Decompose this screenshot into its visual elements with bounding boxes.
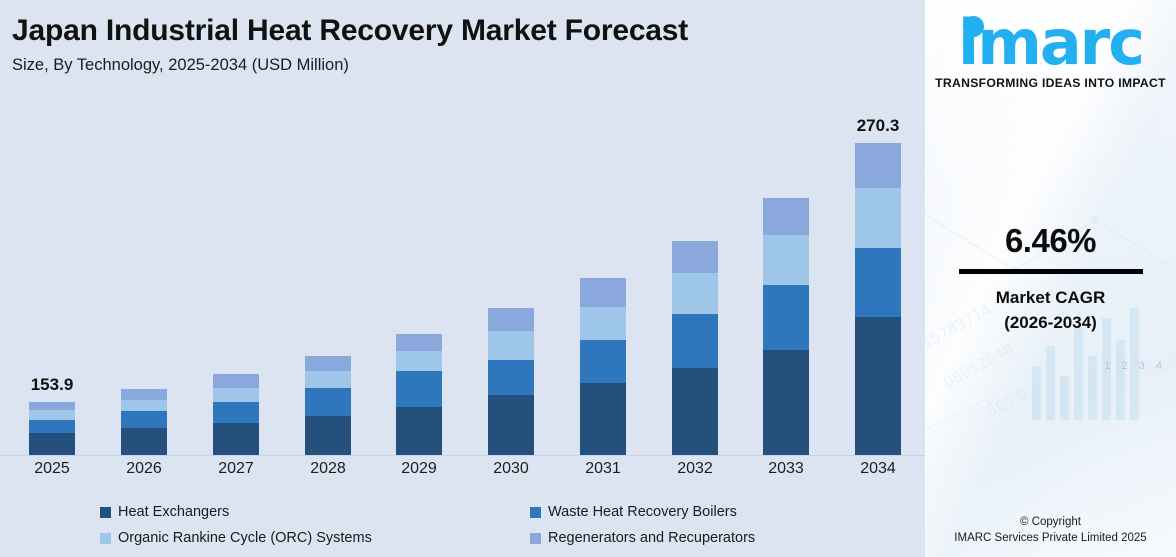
bar-segment-regenerators-and-recuperators — [763, 198, 809, 235]
x-axis-tick-2029: 2029 — [379, 460, 459, 478]
legend-label: Regenerators and Recuperators — [548, 530, 755, 546]
legend-swatch-icon — [530, 533, 541, 544]
bar-segment-waste-heat-recovery-boilers — [396, 371, 442, 407]
x-axis-tick-2032: 2032 — [655, 460, 735, 478]
x-axis-tick-2030: 2030 — [471, 460, 551, 478]
bar-segment-regenerators-and-recuperators — [580, 278, 626, 307]
bar-segment-waste-heat-recovery-boilers — [121, 411, 167, 428]
bar-segment-organic-rankine-cycle-orc-systems — [305, 371, 351, 388]
x-axis-tick-2031: 2031 — [563, 460, 643, 478]
bar-segment-organic-rankine-cycle-orc-systems — [213, 388, 259, 402]
legend-item-waste-heat-recovery-boilers[interactable]: Waste Heat Recovery Boilers — [530, 504, 960, 520]
bar-stack — [672, 241, 718, 455]
bar-segment-heat-exchangers — [396, 407, 442, 455]
bar-segment-organic-rankine-cycle-orc-systems — [580, 307, 626, 340]
bar-segment-heat-exchangers — [488, 395, 534, 455]
x-axis-tick-2033: 2033 — [746, 460, 826, 478]
legend-item-heat-exchangers[interactable]: Heat Exchangers — [100, 504, 530, 520]
bar-segment-organic-rankine-cycle-orc-systems — [121, 400, 167, 411]
bar-segment-heat-exchangers — [305, 416, 351, 455]
cagr-divider — [959, 269, 1143, 274]
x-axis-tick-2026: 2026 — [104, 460, 184, 478]
legend-label: Organic Rankine Cycle (ORC) Systems — [118, 530, 372, 546]
legend-label: Waste Heat Recovery Boilers — [548, 504, 737, 520]
branding-pane: 0.15783714 08952048 500.0 1 2 3 4 imarc … — [925, 0, 1176, 557]
x-axis-tick-2034: 2034 — [838, 460, 918, 478]
cagr-label-period: (2026-2034) — [925, 311, 1176, 336]
copyright-line-1: © Copyright — [925, 514, 1176, 531]
bar-segment-heat-exchangers — [580, 383, 626, 455]
bar-segment-heat-exchangers — [29, 433, 75, 455]
bar-stack — [121, 389, 167, 455]
bar-segment-regenerators-and-recuperators — [855, 143, 901, 188]
x-axis-tick-2025: 2025 — [12, 460, 92, 478]
imarc-wordmark: imarc — [925, 14, 1176, 73]
bar-segment-waste-heat-recovery-boilers — [763, 285, 809, 350]
x-axis-baseline — [0, 455, 925, 456]
bar-stack: 270.3 — [855, 143, 901, 455]
bar-segment-waste-heat-recovery-boilers — [672, 314, 718, 368]
bar-segment-waste-heat-recovery-boilers — [305, 388, 351, 416]
bar-segment-organic-rankine-cycle-orc-systems — [855, 188, 901, 248]
legend-item-organic-rankine-cycle-orc-systems[interactable]: Organic Rankine Cycle (ORC) Systems — [100, 530, 530, 546]
legend-swatch-icon — [100, 533, 111, 544]
bar-stack — [396, 334, 442, 455]
bar-segment-waste-heat-recovery-boilers — [29, 420, 75, 433]
chart-legend: Heat ExchangersWaste Heat Recovery Boile… — [100, 504, 900, 546]
bar-segment-organic-rankine-cycle-orc-systems — [396, 351, 442, 371]
imarc-logo: imarc TRANSFORMING IDEAS INTO IMPACT — [925, 14, 1176, 90]
bar-segment-heat-exchangers — [121, 428, 167, 455]
x-axis-labels: 2025202620272028202920302031203220332034 — [0, 460, 925, 488]
x-axis-tick-2028: 2028 — [288, 460, 368, 478]
bar-stack — [763, 198, 809, 455]
copyright-notice: © Copyright IMARC Services Private Limit… — [925, 514, 1176, 547]
cagr-block: 6.46% Market CAGR (2026-2034) — [925, 222, 1176, 335]
legend-label: Heat Exchangers — [118, 504, 229, 520]
bar-stack — [488, 308, 534, 455]
bar-segment-regenerators-and-recuperators — [396, 334, 442, 351]
bar-segment-heat-exchangers — [855, 317, 901, 455]
bar-value-label: 270.3 — [857, 116, 900, 136]
bar-segment-regenerators-and-recuperators — [305, 356, 351, 371]
bar-segment-organic-rankine-cycle-orc-systems — [763, 235, 809, 285]
cagr-value: 6.46% — [925, 222, 1176, 260]
bar-segment-organic-rankine-cycle-orc-systems — [29, 410, 75, 420]
copyright-line-2: IMARC Services Private Limited 2025 — [925, 530, 1176, 547]
imarc-logo-dot-icon — [963, 16, 984, 37]
bar-stack: 153.9 — [29, 402, 75, 455]
bar-value-label: 153.9 — [31, 375, 74, 395]
x-axis-tick-2027: 2027 — [196, 460, 276, 478]
legend-item-regenerators-and-recuperators[interactable]: Regenerators and Recuperators — [530, 530, 960, 546]
bar-segment-regenerators-and-recuperators — [672, 241, 718, 273]
bar-stack — [580, 278, 626, 455]
bar-segment-waste-heat-recovery-boilers — [213, 402, 259, 423]
bar-stack — [305, 356, 351, 455]
bar-segment-regenerators-and-recuperators — [29, 402, 75, 410]
legend-swatch-icon — [530, 507, 541, 518]
bar-segment-heat-exchangers — [672, 368, 718, 455]
cagr-label-primary: Market CAGR — [925, 286, 1176, 311]
bar-stack — [213, 374, 259, 455]
bar-segment-regenerators-and-recuperators — [121, 389, 167, 400]
bar-segment-heat-exchangers — [763, 350, 809, 455]
bar-segment-heat-exchangers — [213, 423, 259, 455]
bar-segment-organic-rankine-cycle-orc-systems — [488, 331, 534, 360]
chart-infographic: Japan Industrial Heat Recovery Market Fo… — [0, 0, 1176, 557]
bar-segment-waste-heat-recovery-boilers — [580, 340, 626, 383]
bar-segment-waste-heat-recovery-boilers — [855, 248, 901, 317]
bar-segment-waste-heat-recovery-boilers — [488, 360, 534, 395]
bar-segment-regenerators-and-recuperators — [488, 308, 534, 331]
bar-segment-organic-rankine-cycle-orc-systems — [672, 273, 718, 314]
bar-series-container: 153.9270.3 — [0, 0, 925, 455]
bar-segment-regenerators-and-recuperators — [213, 374, 259, 388]
chart-pane: Japan Industrial Heat Recovery Market Fo… — [0, 0, 925, 557]
legend-swatch-icon — [100, 507, 111, 518]
